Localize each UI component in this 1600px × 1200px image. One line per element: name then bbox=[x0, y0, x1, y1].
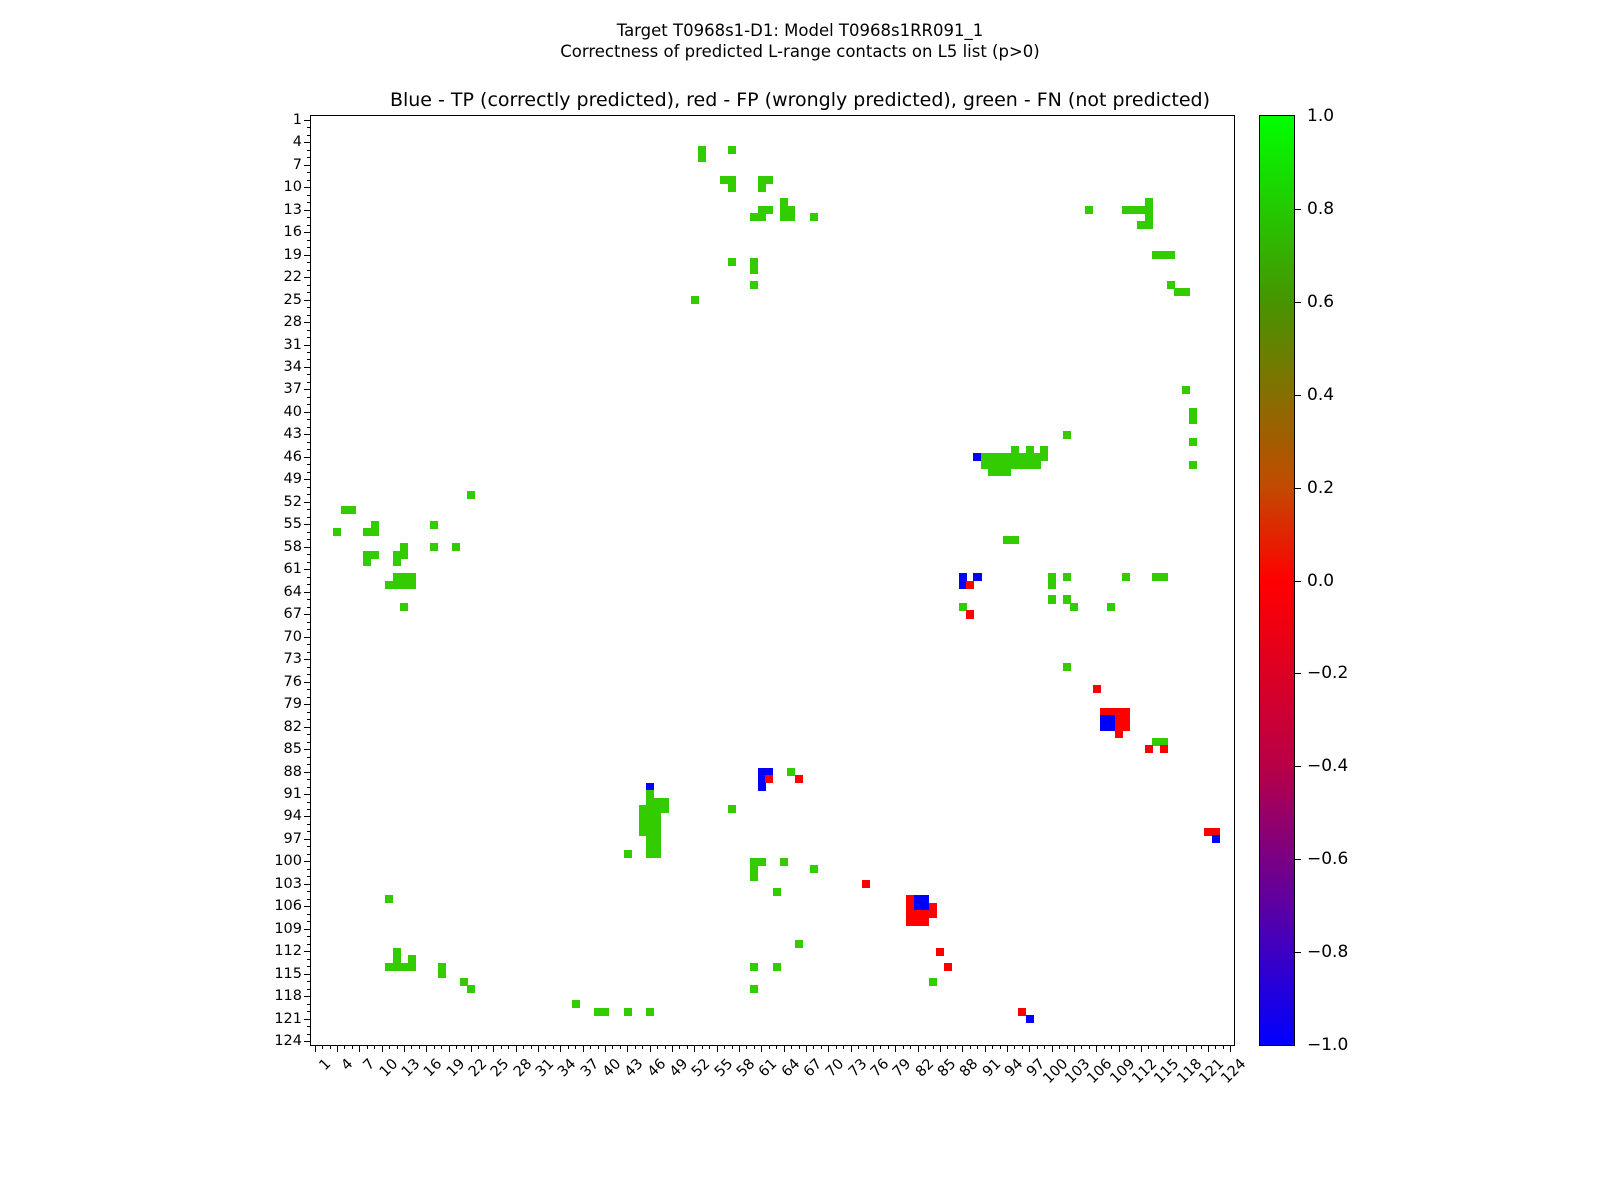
x-tick-mark bbox=[352, 1045, 353, 1049]
x-tick-mark bbox=[1193, 1045, 1194, 1049]
y-tick-mark bbox=[307, 742, 311, 743]
y-tick-label: 13 bbox=[284, 202, 302, 218]
contact-cell-fn bbox=[348, 506, 356, 514]
contact-cell-fp bbox=[765, 775, 773, 783]
y-tick-label: 40 bbox=[284, 404, 302, 420]
y-tick-label: 124 bbox=[274, 1033, 302, 1049]
x-tick-mark bbox=[389, 1045, 390, 1049]
y-tick-mark bbox=[307, 554, 311, 555]
contact-map-figure: Target T0968s1-D1: Model T0968s1RR091_1 … bbox=[0, 0, 1600, 1200]
colorbar-tick-label: 0.0 bbox=[1307, 571, 1334, 591]
y-tick-mark bbox=[304, 547, 311, 548]
y-tick-mark bbox=[307, 404, 311, 405]
contact-cell-fn bbox=[765, 206, 773, 214]
x-tick-mark bbox=[598, 1045, 599, 1049]
y-tick-mark bbox=[307, 135, 311, 136]
y-tick-mark bbox=[307, 854, 311, 855]
y-tick-mark bbox=[304, 232, 311, 233]
y-tick-mark bbox=[307, 667, 311, 668]
contact-cell-fn bbox=[624, 850, 632, 858]
y-tick-mark bbox=[307, 337, 311, 338]
contact-cell-fn bbox=[810, 865, 818, 873]
y-tick-label: 49 bbox=[284, 471, 302, 487]
contact-cell-fn bbox=[1033, 461, 1041, 469]
x-tick-mark bbox=[419, 1045, 420, 1049]
contact-cell-fn bbox=[1048, 595, 1056, 603]
y-tick-mark bbox=[304, 704, 311, 705]
x-tick-mark bbox=[828, 1045, 829, 1052]
contact-cell-fn bbox=[1189, 438, 1197, 446]
x-tick-mark bbox=[1044, 1045, 1045, 1049]
y-tick-mark bbox=[304, 322, 311, 323]
colorbar-tick-mark bbox=[1294, 302, 1301, 303]
contact-cell-fn bbox=[698, 153, 706, 161]
x-tick-label: 28 bbox=[511, 1056, 535, 1080]
y-tick-mark bbox=[307, 157, 311, 158]
y-tick-mark bbox=[307, 921, 311, 922]
y-tick-mark bbox=[307, 442, 311, 443]
x-tick-mark bbox=[1052, 1045, 1053, 1052]
x-tick-label: 73 bbox=[846, 1056, 870, 1080]
y-tick-mark bbox=[304, 861, 311, 862]
y-tick-mark bbox=[307, 1034, 311, 1035]
x-tick-mark bbox=[642, 1045, 643, 1049]
contact-cell-fn bbox=[400, 551, 408, 559]
x-tick-mark bbox=[880, 1045, 881, 1049]
y-tick-mark bbox=[304, 996, 311, 997]
y-tick-mark bbox=[304, 389, 311, 390]
y-tick-mark bbox=[304, 592, 311, 593]
legend-title: Blue - TP (correctly predicted), red - F… bbox=[0, 89, 1600, 111]
x-tick-mark bbox=[761, 1045, 762, 1052]
y-tick-mark bbox=[304, 277, 311, 278]
x-tick-mark bbox=[732, 1045, 733, 1049]
x-tick-mark bbox=[575, 1045, 576, 1049]
x-tick-mark bbox=[1156, 1045, 1157, 1049]
colorbar-tick-mark bbox=[1294, 859, 1301, 860]
y-tick-mark bbox=[307, 787, 311, 788]
x-tick-mark bbox=[516, 1045, 517, 1052]
y-tick-mark bbox=[307, 697, 311, 698]
x-tick-mark bbox=[1171, 1045, 1172, 1049]
x-tick-mark bbox=[1186, 1045, 1187, 1052]
contact-cell-fn bbox=[408, 581, 416, 589]
x-tick-mark bbox=[1029, 1045, 1030, 1052]
y-tick-mark bbox=[304, 479, 311, 480]
y-tick-label: 112 bbox=[274, 943, 302, 959]
y-tick-mark bbox=[307, 689, 311, 690]
x-tick-mark bbox=[1178, 1045, 1179, 1049]
contact-cell-fn bbox=[1137, 221, 1145, 229]
x-tick-mark bbox=[545, 1045, 546, 1049]
colorbar-tick-label: 0.4 bbox=[1307, 385, 1334, 405]
y-tick-mark bbox=[304, 727, 311, 728]
x-tick-mark bbox=[843, 1045, 844, 1049]
x-tick-mark bbox=[426, 1045, 427, 1052]
contact-cell-fn bbox=[467, 491, 475, 499]
x-tick-mark bbox=[769, 1045, 770, 1049]
contact-cell-tp bbox=[1212, 835, 1220, 843]
y-tick-mark bbox=[307, 172, 311, 173]
colorbar-tick-label: −0.8 bbox=[1307, 942, 1348, 962]
contact-cell-fn bbox=[750, 873, 758, 881]
y-tick-label: 4 bbox=[293, 134, 302, 150]
contact-cell-fn bbox=[780, 858, 788, 866]
colorbar-tick-label: −0.4 bbox=[1307, 756, 1348, 776]
x-tick-mark bbox=[1111, 1045, 1112, 1049]
x-tick-mark bbox=[657, 1045, 658, 1049]
contact-cell-fp bbox=[1122, 723, 1130, 731]
y-tick-mark bbox=[307, 876, 311, 877]
contact-cell-fn bbox=[572, 1000, 580, 1008]
x-tick-mark bbox=[404, 1045, 405, 1052]
y-tick-mark bbox=[307, 809, 311, 810]
y-tick-label: 73 bbox=[284, 651, 302, 667]
contact-cell-fn bbox=[452, 543, 460, 551]
y-tick-mark bbox=[307, 846, 311, 847]
y-tick-label: 52 bbox=[284, 494, 302, 510]
x-tick-mark bbox=[374, 1045, 375, 1049]
contact-cell-fp bbox=[944, 963, 952, 971]
y-tick-mark bbox=[304, 816, 311, 817]
y-tick-mark bbox=[307, 824, 311, 825]
x-tick-label: 22 bbox=[466, 1056, 490, 1080]
y-tick-mark bbox=[307, 285, 311, 286]
x-tick-label: 16 bbox=[421, 1056, 445, 1080]
x-tick-mark bbox=[739, 1045, 740, 1052]
contact-cell-fn bbox=[773, 888, 781, 896]
y-tick-label: 10 bbox=[284, 179, 302, 195]
y-tick-mark bbox=[307, 352, 311, 353]
contact-cell-fn bbox=[810, 213, 818, 221]
x-tick-mark bbox=[665, 1045, 666, 1049]
x-tick-mark bbox=[947, 1045, 948, 1049]
contact-cell-fn bbox=[467, 985, 475, 993]
x-tick-mark bbox=[702, 1045, 703, 1049]
y-tick-mark bbox=[307, 652, 311, 653]
colorbar-tick-label: −0.6 bbox=[1307, 849, 1348, 869]
x-tick-label: 94 bbox=[1002, 1056, 1026, 1080]
y-tick-mark bbox=[307, 270, 311, 271]
contact-cell-fn bbox=[1189, 461, 1197, 469]
x-tick-label: 25 bbox=[488, 1056, 512, 1080]
x-tick-label: 37 bbox=[578, 1056, 602, 1080]
y-tick-mark bbox=[304, 682, 311, 683]
y-tick-mark bbox=[307, 517, 311, 518]
contact-cell-fn bbox=[408, 963, 416, 971]
y-tick-label: 34 bbox=[284, 359, 302, 375]
x-tick-label: 64 bbox=[779, 1056, 803, 1080]
x-tick-mark bbox=[568, 1045, 569, 1049]
y-tick-mark bbox=[307, 981, 311, 982]
x-tick-mark bbox=[456, 1045, 457, 1049]
x-tick-label: 82 bbox=[913, 1056, 937, 1080]
x-tick-mark bbox=[821, 1045, 822, 1049]
y-tick-mark bbox=[307, 869, 311, 870]
y-tick-label: 61 bbox=[284, 561, 302, 577]
y-tick-mark bbox=[304, 906, 311, 907]
contact-cell-fp bbox=[921, 918, 929, 926]
x-tick-label: 67 bbox=[801, 1056, 825, 1080]
x-tick-mark bbox=[858, 1045, 859, 1049]
contact-cell-fn bbox=[1063, 663, 1071, 671]
x-tick-label: 61 bbox=[756, 1056, 780, 1080]
y-tick-mark bbox=[307, 914, 311, 915]
y-tick-mark bbox=[304, 300, 311, 301]
x-tick-mark bbox=[970, 1045, 971, 1049]
y-tick-mark bbox=[307, 127, 311, 128]
y-tick-mark bbox=[307, 427, 311, 428]
y-tick-mark bbox=[307, 891, 311, 892]
x-tick-mark bbox=[1089, 1045, 1090, 1049]
y-tick-mark bbox=[307, 494, 311, 495]
y-tick-mark bbox=[307, 292, 311, 293]
y-tick-mark bbox=[304, 929, 311, 930]
contact-map-plot-area[interactable]: 1471013161922252831343740434649525558616… bbox=[310, 115, 1235, 1046]
y-tick-mark bbox=[307, 464, 311, 465]
contact-cell-fn bbox=[430, 521, 438, 529]
x-tick-mark bbox=[962, 1045, 963, 1052]
contact-cell-fn bbox=[624, 1008, 632, 1016]
x-tick-mark bbox=[754, 1045, 755, 1049]
x-tick-label: 19 bbox=[444, 1056, 468, 1080]
x-tick-mark bbox=[895, 1045, 896, 1052]
x-tick-mark bbox=[1230, 1045, 1231, 1052]
y-tick-mark bbox=[304, 974, 311, 975]
y-tick-mark bbox=[307, 607, 311, 608]
x-tick-label: 49 bbox=[667, 1056, 691, 1080]
x-tick-mark bbox=[813, 1045, 814, 1049]
x-tick-mark bbox=[560, 1045, 561, 1052]
x-tick-mark bbox=[1148, 1045, 1149, 1049]
contact-cell-fn bbox=[1145, 221, 1153, 229]
y-tick-label: 82 bbox=[284, 719, 302, 735]
y-tick-label: 118 bbox=[274, 988, 302, 1004]
y-tick-label: 19 bbox=[284, 247, 302, 263]
x-tick-mark bbox=[650, 1045, 651, 1052]
x-tick-mark bbox=[977, 1045, 978, 1049]
y-tick-mark bbox=[304, 142, 311, 143]
contact-cell-fn bbox=[430, 543, 438, 551]
x-tick-mark bbox=[478, 1045, 479, 1049]
contact-cell-fn bbox=[371, 528, 379, 536]
y-tick-mark bbox=[307, 899, 311, 900]
x-tick-label: 79 bbox=[890, 1056, 914, 1080]
x-tick-mark bbox=[992, 1045, 993, 1049]
x-tick-mark bbox=[1223, 1045, 1224, 1049]
y-tick-mark bbox=[307, 1004, 311, 1005]
x-tick-mark bbox=[397, 1045, 398, 1049]
x-tick-mark bbox=[799, 1045, 800, 1049]
y-tick-label: 28 bbox=[284, 314, 302, 330]
x-tick-mark bbox=[933, 1045, 934, 1049]
x-tick-mark bbox=[501, 1045, 502, 1049]
x-tick-label: 52 bbox=[689, 1056, 713, 1080]
y-tick-mark bbox=[304, 794, 311, 795]
y-tick-mark bbox=[304, 1019, 311, 1020]
contact-cell-fp bbox=[929, 910, 937, 918]
x-tick-label: 13 bbox=[399, 1056, 423, 1080]
x-tick-label: 7 bbox=[361, 1056, 379, 1074]
contact-cell-fn bbox=[1122, 573, 1130, 581]
x-tick-mark bbox=[1059, 1045, 1060, 1049]
contact-cell-fn bbox=[438, 970, 446, 978]
y-tick-mark bbox=[307, 629, 311, 630]
y-tick-mark bbox=[307, 509, 311, 510]
y-tick-label: 43 bbox=[284, 426, 302, 442]
y-tick-mark bbox=[304, 1041, 311, 1042]
y-tick-label: 121 bbox=[274, 1011, 302, 1027]
x-tick-mark bbox=[955, 1045, 956, 1049]
y-tick-label: 94 bbox=[284, 808, 302, 824]
contact-cell-fn bbox=[787, 213, 795, 221]
x-tick-mark bbox=[605, 1045, 606, 1052]
y-tick-mark bbox=[304, 367, 311, 368]
x-tick-mark bbox=[687, 1045, 688, 1049]
colorbar-tick-mark bbox=[1294, 209, 1301, 210]
y-tick-mark bbox=[307, 622, 311, 623]
contact-cell-fp bbox=[1160, 745, 1168, 753]
x-tick-mark bbox=[672, 1045, 673, 1052]
x-tick-mark bbox=[1096, 1045, 1097, 1052]
contact-cell-fn bbox=[653, 850, 661, 858]
y-tick-mark bbox=[304, 412, 311, 413]
y-tick-mark bbox=[304, 187, 311, 188]
x-tick-mark bbox=[1022, 1045, 1023, 1049]
contact-cell-tp bbox=[758, 783, 766, 791]
y-tick-mark bbox=[307, 397, 311, 398]
y-tick-label: 79 bbox=[284, 696, 302, 712]
y-tick-mark bbox=[304, 884, 311, 885]
x-tick-mark bbox=[464, 1045, 465, 1049]
contact-cells-layer bbox=[311, 116, 1234, 1045]
y-tick-mark bbox=[307, 307, 311, 308]
contact-cell-fn bbox=[646, 1008, 654, 1016]
y-tick-mark bbox=[304, 434, 311, 435]
y-tick-label: 58 bbox=[284, 539, 302, 555]
y-tick-label: 22 bbox=[284, 269, 302, 285]
x-tick-mark bbox=[486, 1045, 487, 1049]
figure-title-line1: Target T0968s1-D1: Model T0968s1RR091_1 bbox=[0, 21, 1600, 40]
x-tick-mark bbox=[746, 1045, 747, 1049]
y-tick-label: 70 bbox=[284, 629, 302, 645]
contact-cell-fn bbox=[333, 528, 341, 536]
x-tick-mark bbox=[1000, 1045, 1001, 1049]
y-tick-mark bbox=[307, 472, 311, 473]
x-tick-mark bbox=[985, 1045, 986, 1052]
y-tick-mark bbox=[307, 419, 311, 420]
y-tick-label: 7 bbox=[293, 157, 302, 173]
y-tick-mark bbox=[304, 637, 311, 638]
contact-cell-fn bbox=[758, 858, 766, 866]
y-tick-mark bbox=[307, 712, 311, 713]
contact-cell-fn bbox=[728, 805, 736, 813]
colorbar-tick-label: 0.8 bbox=[1307, 199, 1334, 219]
colorbar-tick-label: 0.2 bbox=[1307, 478, 1334, 498]
x-tick-mark bbox=[330, 1045, 331, 1049]
colorbar[interactable]: 1.00.80.60.40.20.0−0.2−0.4−0.6−0.8−1.0 bbox=[1259, 115, 1295, 1046]
x-tick-mark bbox=[1126, 1045, 1127, 1049]
x-tick-label: 58 bbox=[734, 1056, 758, 1080]
x-tick-mark bbox=[851, 1045, 852, 1052]
contact-cell-fn bbox=[758, 213, 766, 221]
x-tick-mark bbox=[441, 1045, 442, 1049]
y-tick-label: 91 bbox=[284, 786, 302, 802]
contact-cell-fn bbox=[385, 895, 393, 903]
y-tick-mark bbox=[304, 210, 311, 211]
x-tick-mark bbox=[493, 1045, 494, 1052]
y-tick-label: 46 bbox=[284, 449, 302, 465]
y-tick-mark bbox=[307, 734, 311, 735]
x-tick-label: 46 bbox=[645, 1056, 669, 1080]
y-tick-mark bbox=[304, 502, 311, 503]
y-tick-mark bbox=[307, 584, 311, 585]
x-tick-mark bbox=[717, 1045, 718, 1052]
y-tick-mark bbox=[307, 532, 311, 533]
contact-cell-fn bbox=[929, 978, 937, 986]
y-tick-mark bbox=[307, 225, 311, 226]
x-tick-mark bbox=[1007, 1045, 1008, 1052]
y-tick-mark bbox=[304, 951, 311, 952]
colorbar-tick-label: 1.0 bbox=[1307, 106, 1334, 126]
y-tick-mark bbox=[304, 839, 311, 840]
y-tick-label: 37 bbox=[284, 381, 302, 397]
colorbar-tick-mark bbox=[1294, 673, 1301, 674]
x-tick-mark bbox=[620, 1045, 621, 1049]
contact-cell-fn bbox=[363, 558, 371, 566]
y-tick-mark bbox=[304, 614, 311, 615]
x-tick-mark bbox=[836, 1045, 837, 1049]
x-tick-label: 31 bbox=[533, 1056, 557, 1080]
contact-cell-fn bbox=[728, 146, 736, 154]
y-tick-mark bbox=[307, 330, 311, 331]
contact-cell-fn bbox=[400, 603, 408, 611]
contact-cell-fn bbox=[1085, 206, 1093, 214]
y-tick-mark bbox=[304, 120, 311, 121]
contact-cell-fn bbox=[1182, 288, 1190, 296]
contact-cell-fp bbox=[966, 581, 974, 589]
contact-cell-fn bbox=[1040, 453, 1048, 461]
contact-cell-fn bbox=[393, 558, 401, 566]
x-tick-mark bbox=[1074, 1045, 1075, 1052]
y-tick-label: 25 bbox=[284, 292, 302, 308]
y-tick-mark bbox=[304, 569, 311, 570]
y-tick-mark bbox=[304, 772, 311, 773]
x-tick-mark bbox=[903, 1045, 904, 1049]
x-tick-mark bbox=[471, 1045, 472, 1052]
colorbar-tick-mark bbox=[1294, 395, 1301, 396]
y-tick-mark bbox=[307, 539, 311, 540]
x-tick-mark bbox=[359, 1045, 360, 1052]
x-tick-label: 76 bbox=[868, 1056, 892, 1080]
y-tick-label: 16 bbox=[284, 224, 302, 240]
x-tick-mark bbox=[866, 1045, 867, 1049]
x-tick-mark bbox=[918, 1045, 919, 1052]
y-tick-mark bbox=[307, 936, 311, 937]
contact-cell-fn bbox=[728, 258, 736, 266]
x-tick-mark bbox=[806, 1045, 807, 1052]
y-tick-mark bbox=[307, 674, 311, 675]
y-tick-label: 97 bbox=[284, 831, 302, 847]
x-tick-mark bbox=[337, 1045, 338, 1052]
x-tick-mark bbox=[940, 1045, 941, 1052]
contact-cell-fn bbox=[1107, 603, 1115, 611]
y-tick-mark bbox=[307, 195, 311, 196]
contact-cell-fn bbox=[1182, 386, 1190, 394]
x-tick-label: 34 bbox=[555, 1056, 579, 1080]
y-tick-mark bbox=[307, 577, 311, 578]
x-tick-mark bbox=[590, 1045, 591, 1049]
